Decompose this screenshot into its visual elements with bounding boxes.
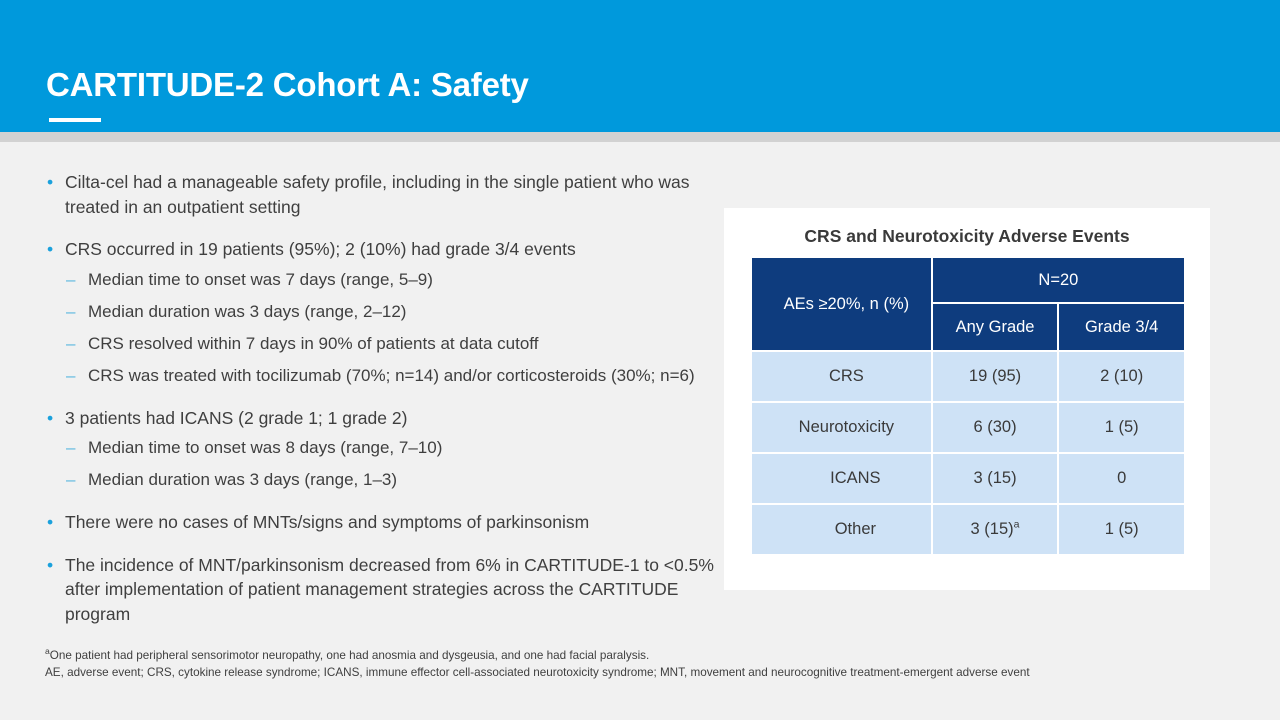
cell-neurotoxicity-grade-34: 1 (5)	[1059, 403, 1184, 452]
cell-icans-grade-34: 0	[1059, 454, 1184, 503]
sub-bullet-item: – Median duration was 3 days (range, 1–3…	[44, 468, 716, 492]
adverse-events-panel: CRS and Neurotoxicity Adverse Events AEs…	[724, 208, 1210, 590]
table-subheader-grade-34: Grade 3/4	[1059, 304, 1184, 350]
bullet-item: • Cilta-cel had a manageable safety prof…	[44, 170, 716, 219]
bullet-item: • 3 patients had ICANS (2 grade 1; 1 gra…	[44, 406, 716, 431]
sub-bullet-item: – Median time to onset was 8 days (range…	[44, 436, 716, 460]
table-row: CRS 19 (95) 2 (10)	[752, 352, 1184, 401]
sub-bullet-item: – CRS resolved within 7 days in 90% of p…	[44, 332, 716, 356]
bullet-marker-dash: –	[66, 268, 75, 292]
bullet-text: CRS occurred in 19 patients (95%); 2 (10…	[65, 239, 576, 259]
footnote-line-a: aOne patient had peripheral sensorimotor…	[45, 648, 1105, 665]
bullet-marker-dot: •	[47, 553, 53, 578]
sub-bullet-item: – Median time to onset was 7 days (range…	[44, 268, 716, 292]
sub-bullet-text: Median time to onset was 7 days (range, …	[88, 270, 433, 289]
table-body: CRS 19 (95) 2 (10) Neurotoxicity 6 (30) …	[752, 352, 1184, 554]
bullet-marker-dot: •	[47, 510, 53, 535]
adverse-events-table: AEs ≥20%, n (%) N=20 Any Grade Grade 3/4…	[750, 256, 1186, 556]
row-label-icans: ICANS	[752, 454, 931, 503]
row-label-neurotoxicity: Neurotoxicity	[752, 403, 931, 452]
table-header: AEs ≥20%, n (%) N=20 Any Grade Grade 3/4	[752, 258, 1184, 350]
sub-bullet-text: Median duration was 3 days (range, 2–12)	[88, 302, 406, 321]
header-divider	[0, 132, 1280, 142]
cell-neurotoxicity-any-grade: 6 (30)	[933, 403, 1058, 452]
bullet-item: • The incidence of MNT/parkinsonism decr…	[44, 553, 716, 627]
bullet-text: Cilta-cel had a manageable safety profil…	[65, 172, 690, 217]
page-title: CARTITUDE-2 Cohort A: Safety	[46, 66, 529, 104]
slide-header-band: CARTITUDE-2 Cohort A: Safety	[0, 0, 1280, 132]
bullet-marker-dash: –	[66, 468, 75, 492]
table-stub-header: AEs ≥20%, n (%)	[752, 258, 931, 350]
bullet-content-column: • Cilta-cel had a manageable safety prof…	[44, 170, 716, 640]
sub-bullet-item: – CRS was treated with tocilizumab (70%;…	[44, 364, 716, 388]
footnote-ref-a: a	[1014, 519, 1020, 531]
table-subheader-any-grade: Any Grade	[933, 304, 1058, 350]
cell-crs-grade-34: 2 (10)	[1059, 352, 1184, 401]
sub-bullet-text: CRS was treated with tocilizumab (70%; n…	[88, 366, 695, 385]
cell-other-grade-34: 1 (5)	[1059, 505, 1184, 554]
sub-bullet-item: – Median duration was 3 days (range, 2–1…	[44, 300, 716, 324]
bullet-marker-dot: •	[47, 406, 53, 431]
table-header-row-group: AEs ≥20%, n (%) N=20	[752, 258, 1184, 302]
bullet-marker-dot: •	[47, 237, 53, 262]
footnotes: aOne patient had peripheral sensorimotor…	[45, 648, 1105, 681]
sub-bullet-text: Median duration was 3 days (range, 1–3)	[88, 470, 397, 489]
cell-crs-any-grade: 19 (95)	[933, 352, 1058, 401]
bullet-text: There were no cases of MNTs/signs and sy…	[65, 512, 589, 532]
table-group-header: N=20	[933, 258, 1184, 302]
bullet-text: The incidence of MNT/parkinsonism decrea…	[65, 555, 714, 624]
cell-other-any-grade: 3 (15)a	[933, 505, 1058, 554]
row-label-crs: CRS	[752, 352, 931, 401]
cell-icans-any-grade: 3 (15)	[933, 454, 1058, 503]
table-row: ICANS 3 (15) 0	[752, 454, 1184, 503]
row-label-other: Other	[752, 505, 931, 554]
cell-other-any-grade-value: 3 (15)	[971, 520, 1014, 538]
sub-bullet-text: Median time to onset was 8 days (range, …	[88, 438, 442, 457]
bullet-marker-dash: –	[66, 300, 75, 324]
table-row: Neurotoxicity 6 (30) 1 (5)	[752, 403, 1184, 452]
footnote-abbreviations: AE, adverse event; CRS, cytokine release…	[45, 665, 1105, 682]
footnote-a-text: One patient had peripheral sensorimotor …	[50, 649, 649, 662]
bullet-text: 3 patients had ICANS (2 grade 1; 1 grade…	[65, 408, 407, 428]
bullet-marker-dot: •	[47, 170, 53, 195]
bullet-marker-dash: –	[66, 364, 75, 388]
title-accent-underline	[49, 118, 101, 122]
sub-bullet-text: CRS resolved within 7 days in 90% of pat…	[88, 334, 538, 353]
bullet-marker-dash: –	[66, 332, 75, 356]
bullet-marker-dash: –	[66, 436, 75, 460]
bullet-item: • There were no cases of MNTs/signs and …	[44, 510, 716, 535]
table-row: Other 3 (15)a 1 (5)	[752, 505, 1184, 554]
table-title: CRS and Neurotoxicity Adverse Events	[724, 208, 1210, 247]
bullet-item: • CRS occurred in 19 patients (95%); 2 (…	[44, 237, 716, 262]
